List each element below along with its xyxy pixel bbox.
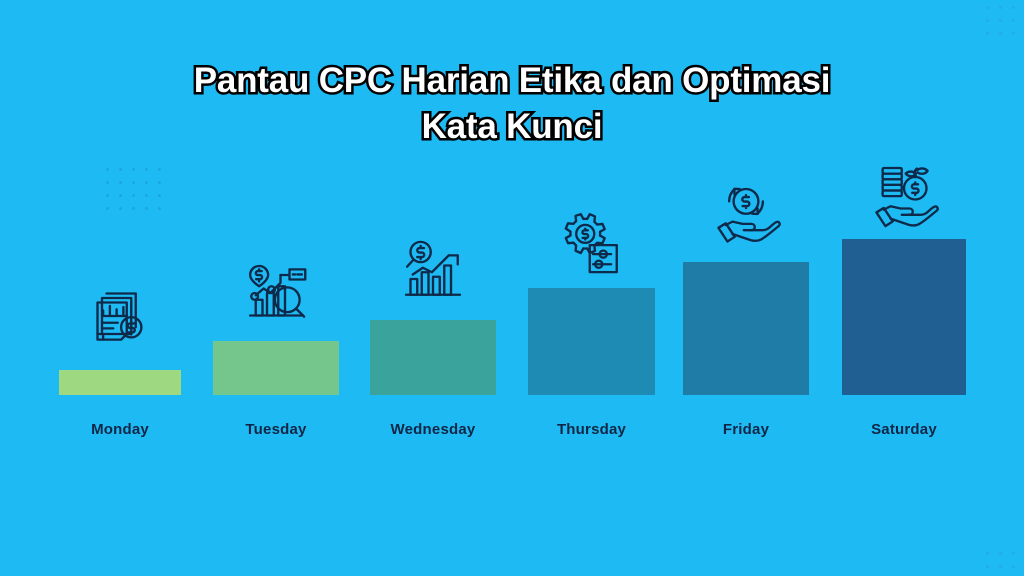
- bar-label-monday: Monday: [59, 421, 181, 438]
- bar-saturday[interactable]: [842, 239, 966, 395]
- hand-coins-money-bag-icon: [868, 159, 940, 231]
- bar-label-friday: Friday: [683, 421, 809, 438]
- bar-tuesday[interactable]: [213, 341, 339, 395]
- document-bar-chart-dollar-icon: [84, 280, 156, 352]
- hand-dollar-return-icon: [710, 180, 782, 252]
- bar-group-monday: Monday: [59, 0, 181, 576]
- bar-friday[interactable]: [683, 262, 809, 395]
- bar-group-wednesday: Wednesday: [370, 0, 496, 576]
- bar-monday[interactable]: [59, 370, 181, 395]
- bar-group-friday: Friday: [683, 0, 809, 576]
- bar-thursday[interactable]: [528, 288, 655, 395]
- bar-label-wednesday: Wednesday: [370, 421, 496, 438]
- bar-group-thursday: Thursday: [528, 0, 655, 576]
- infographic-canvas: Pantau CPC Harian Etika dan Optimasi Kat…: [0, 0, 1024, 576]
- bar-wednesday[interactable]: [370, 320, 496, 395]
- bar-chart-magnifier-dollar-icon: [240, 257, 312, 329]
- gear-dollar-settings-icon: [556, 208, 628, 280]
- bar-group-tuesday: Tuesday: [213, 0, 339, 576]
- bar-label-thursday: Thursday: [528, 421, 655, 438]
- bar-chart: Monday Tuesday Wednesday: [0, 0, 1024, 576]
- bar-label-tuesday: Tuesday: [213, 421, 339, 438]
- growth-chart-arrow-dollar-icon: [397, 234, 469, 306]
- bar-label-saturday: Saturday: [842, 421, 966, 438]
- bar-group-saturday: Saturday: [842, 0, 966, 576]
